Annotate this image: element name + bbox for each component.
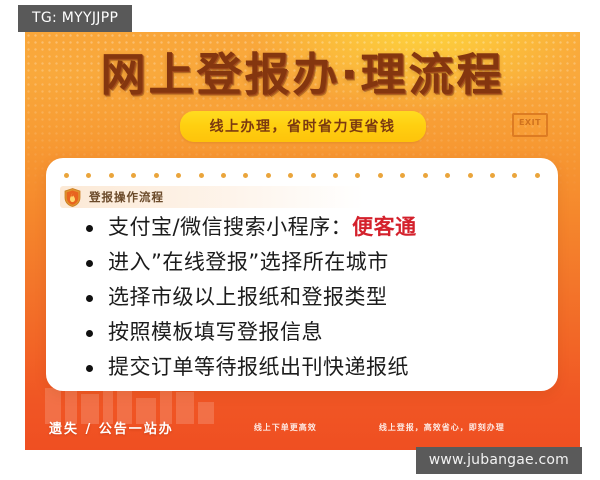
footer-brand: 遗失 / 公告一站办 <box>49 418 174 437</box>
decorative-dot <box>154 173 159 178</box>
shield-flame-icon <box>64 188 81 207</box>
decorative-dot <box>333 173 338 178</box>
telegram-handle-overlay: TG: MYYJJPP <box>18 5 132 32</box>
bullet-icon <box>86 365 93 372</box>
step-text: 提交订单等待报纸出刊快递报纸 <box>108 355 409 379</box>
decorative-dot <box>490 173 495 178</box>
decorative-dot <box>109 173 114 178</box>
decorative-dot <box>445 173 450 178</box>
step-item: 按照模板填写登报信息 <box>82 319 542 346</box>
bullet-icon <box>86 225 93 232</box>
decorative-dot <box>468 173 473 178</box>
screenshot-canvas: 网上登报办·理流程 线上办理，省时省力更省钱 EXIT 登报操作流程 支付宝/微… <box>0 0 600 480</box>
decorative-dot <box>221 173 226 178</box>
decorative-dot <box>266 173 271 178</box>
decorative-dot-row <box>64 172 540 179</box>
decorative-dot <box>378 173 383 178</box>
decorative-dot <box>86 173 91 178</box>
decorative-dot <box>243 173 248 178</box>
bullet-icon <box>86 260 93 267</box>
advertisement-poster: 网上登报办·理流程 线上办理，省时省力更省钱 EXIT 登报操作流程 支付宝/微… <box>25 32 580 450</box>
bullet-icon <box>86 330 93 337</box>
poster-footer: 遗失 / 公告一站办 线上下单更高效 线上登报，高效省心，即刻办理 <box>25 404 580 450</box>
step-text: 支付宝/微信搜索小程序： <box>108 215 352 239</box>
step-item: 选择市级以上报纸和登报类型 <box>82 284 542 311</box>
decorative-dot <box>64 173 69 178</box>
poster-header: 网上登报办·理流程 线上办理，省时省力更省钱 EXIT <box>25 52 580 139</box>
decorative-dot <box>512 173 517 178</box>
steps-card: 登报操作流程 支付宝/微信搜索小程序：便客通进入”在线登报”选择所在城市选择市级… <box>46 158 558 391</box>
card-header-label: 登报操作流程 <box>89 189 164 205</box>
step-item: 进入”在线登报”选择所在城市 <box>82 249 542 276</box>
card-header: 登报操作流程 <box>60 186 364 208</box>
footer-tagline-b: 线上登报，高效省心，即刻办理 <box>379 422 505 433</box>
decorative-dot <box>355 173 360 178</box>
step-item: 支付宝/微信搜索小程序：便客通 <box>82 214 542 241</box>
bullet-icon <box>86 295 93 302</box>
exit-sign-icon: EXIT <box>512 113 548 137</box>
poster-subtitle-row: 线上办理，省时省力更省钱 EXIT <box>25 111 580 139</box>
decorative-dot <box>199 173 204 178</box>
decorative-dot <box>535 173 540 178</box>
step-text: 进入”在线登报”选择所在城市 <box>108 250 389 274</box>
poster-title: 网上登报办·理流程 <box>25 52 580 97</box>
step-item: 提交订单等待报纸出刊快递报纸 <box>82 354 542 381</box>
website-watermark-overlay: www.jubangae.com <box>416 447 582 474</box>
footer-tagline-a: 线上下单更高效 <box>254 422 317 433</box>
decorative-dot <box>311 173 316 178</box>
decorative-dot <box>288 173 293 178</box>
decorative-dot <box>176 173 181 178</box>
decorative-dot <box>400 173 405 178</box>
step-highlight-text: 便客通 <box>352 215 417 239</box>
decorative-dot <box>131 173 136 178</box>
steps-list: 支付宝/微信搜索小程序：便客通进入”在线登报”选择所在城市选择市级以上报纸和登报… <box>82 214 542 381</box>
decorative-dot <box>423 173 428 178</box>
step-text: 按照模板填写登报信息 <box>108 320 323 344</box>
poster-subtitle-pill: 线上办理，省时省力更省钱 <box>180 111 426 142</box>
step-text: 选择市级以上报纸和登报类型 <box>108 285 388 309</box>
